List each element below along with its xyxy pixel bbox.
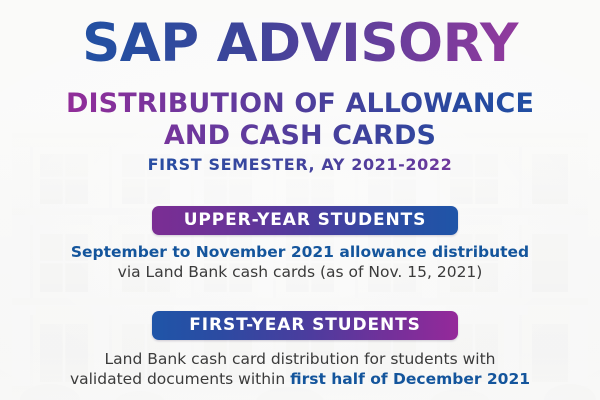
poster-subtitle: DISTRIBUTION OF ALLOWANCE AND CASH CARDS [0,88,600,153]
first-year-body-line-2: validated documents within first half of… [0,369,600,389]
first-year-body-line-2-plain: validated documents within [70,370,290,388]
poster-content: SAP ADVISORY DISTRIBUTION OF ALLOWANCE A… [0,0,600,400]
subtitle-line-1: DISTRIBUTION OF ALLOWANCE [66,88,534,119]
upper-year-body-text: September to November 2021 allowance dis… [0,242,600,283]
upper-year-body-line-1: September to November 2021 allowance dis… [0,242,600,262]
subtitle-line-2: AND CASH CARDS [0,120,600,152]
badge-upper-year-students: UPPER-YEAR STUDENTS [152,206,458,235]
semester-label: FIRST SEMESTER, AY 2021-2022 [0,155,600,174]
first-year-body-text: Land Bank cash card distribution for stu… [0,349,600,390]
upper-year-body-line-2: via Land Bank cash cards (as of Nov. 15,… [0,262,600,282]
first-year-body-line-1: Land Bank cash card distribution for stu… [0,349,600,369]
first-year-deadline-highlight: first half of December 2021 [290,370,530,388]
badge-first-year-students: FIRST-YEAR STUDENTS [152,311,458,340]
page-title: SAP ADVISORY [0,16,600,71]
sap-advisory-poster: SAP ADVISORY DISTRIBUTION OF ALLOWANCE A… [0,0,600,400]
